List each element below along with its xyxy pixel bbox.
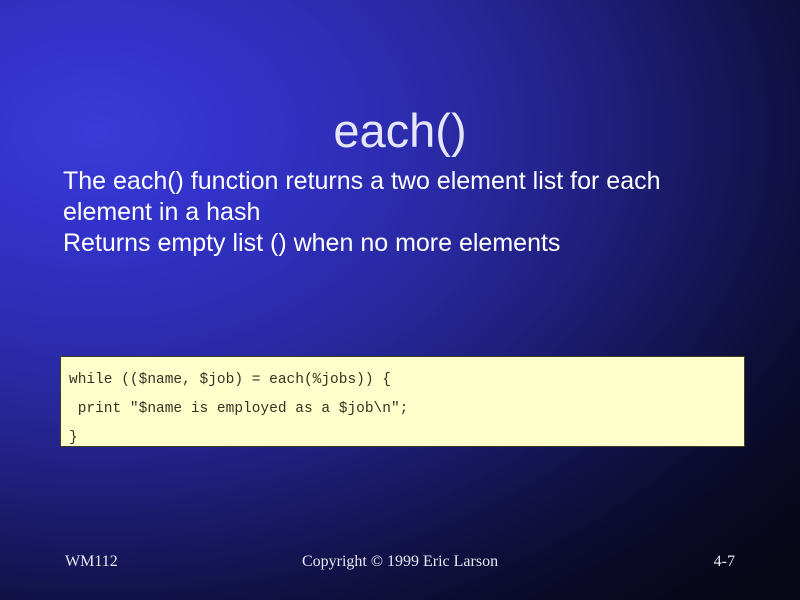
body-paragraph-1: The each() function returns a two elemen… [63,166,753,228]
body-paragraph-2: Returns empty list () when no more eleme… [63,228,753,259]
presentation-slide: each() The each() function returns a two… [0,0,800,600]
slide-body-text: The each() function returns a two elemen… [63,166,753,259]
footer-page-number: 4-7 [0,552,735,572]
slide-title: each() [0,103,800,159]
code-line-1: while (($name, $job) = each(%jobs)) { [69,366,736,395]
code-block: while (($name, $job) = each(%jobs)) { pr… [60,356,745,447]
code-line-3: } [69,424,736,447]
code-line-2: print "$name is employed as a $job\n"; [69,395,736,424]
